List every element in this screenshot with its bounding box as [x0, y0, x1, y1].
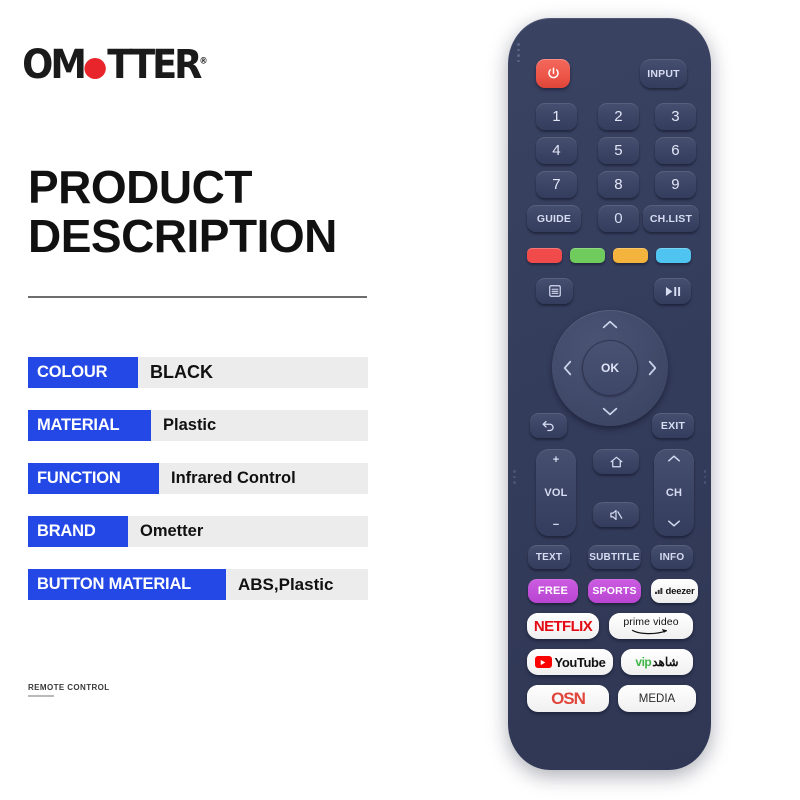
table-row: BUTTON MATERIAL ABS,Plastic — [28, 569, 368, 600]
spec-label-colour: COLOUR — [28, 357, 138, 388]
key-0[interactable]: 0 — [598, 205, 639, 232]
logo-red-dot-icon — [85, 58, 106, 79]
side-vent-dots-left-icon — [513, 470, 516, 487]
key-5[interactable]: 5 — [598, 137, 639, 164]
logo-prefix: OM — [22, 45, 84, 85]
shahid-arabic-label: شاهد — [652, 655, 678, 669]
prime-video-logo: prime video — [623, 617, 678, 635]
shahid-logo: vip شاهد — [635, 655, 678, 669]
color-button-yellow[interactable] — [613, 248, 648, 263]
product-info-panel: OMTTER® PRODUCT DESCRIPTION COLOUR BLACK… — [0, 0, 480, 800]
input-button[interactable]: INPUT — [640, 59, 687, 88]
shahid-vip-label: vip — [635, 655, 651, 669]
spec-value-colour: BLACK — [138, 357, 368, 388]
osn-button[interactable]: OSN — [527, 685, 609, 712]
spec-label-button-material: BUTTON MATERIAL — [28, 569, 226, 600]
prime-smile-arrow-icon — [631, 628, 671, 635]
table-row: BRAND Ometter — [28, 516, 368, 547]
menu-icon — [548, 284, 562, 298]
dpad[interactable]: OK — [552, 310, 668, 426]
chevron-left-icon — [562, 360, 573, 377]
mute-icon — [608, 508, 624, 522]
channel-label: CH — [666, 487, 682, 499]
home-button[interactable] — [593, 449, 639, 474]
prime-video-button[interactable]: prime video — [609, 613, 693, 639]
dpad-up-button[interactable] — [602, 319, 619, 330]
table-row: FUNCTION Infrared Control — [28, 463, 368, 494]
dpad-down-button[interactable] — [602, 406, 619, 417]
ok-button[interactable]: OK — [582, 340, 638, 396]
color-button-green[interactable] — [570, 248, 605, 263]
exit-button[interactable]: EXIT — [652, 413, 694, 438]
channel-down-button[interactable] — [667, 519, 681, 531]
volume-down-label[interactable]: − — [553, 519, 560, 531]
ir-emitter-dots-icon — [517, 43, 524, 65]
netflix-button[interactable]: NETFLIX — [527, 613, 599, 639]
color-button-blue[interactable] — [656, 248, 691, 263]
spec-value-button-material: ABS,Plastic — [226, 569, 368, 600]
youtube-play-icon — [535, 656, 552, 668]
logo-trademark: ® — [199, 57, 207, 67]
spec-label-material: MATERIAL — [28, 410, 151, 441]
key-4[interactable]: 4 — [536, 137, 577, 164]
key-3[interactable]: 3 — [655, 103, 696, 130]
logo-wordmark: OMTTER® — [22, 45, 207, 85]
remote-control-image: INPUT 1 2 3 4 5 6 7 8 9 GUIDE 0 CH.LIST — [508, 18, 711, 770]
media-button[interactable]: MEDIA — [618, 685, 696, 712]
power-icon — [546, 66, 561, 81]
dpad-left-button[interactable] — [562, 360, 573, 377]
logo-suffix: TTER — [107, 45, 199, 85]
spec-value-brand: Ometter — [128, 516, 368, 547]
subtitle-button[interactable]: SUBTITLE — [588, 545, 641, 569]
text-button[interactable]: TEXT — [528, 545, 570, 569]
table-row: MATERIAL Plastic — [28, 410, 368, 441]
free-button[interactable]: FREE — [528, 579, 578, 603]
key-2[interactable]: 2 — [598, 103, 639, 130]
play-pause-button[interactable] — [654, 278, 691, 304]
channel-rocker[interactable]: CH — [654, 449, 694, 536]
page-title: PRODUCT DESCRIPTION — [28, 163, 428, 261]
page-title-line2: DESCRIPTION — [28, 212, 428, 261]
menu-button[interactable] — [536, 278, 573, 304]
back-button[interactable] — [530, 413, 567, 438]
shahid-vip-button[interactable]: vip شاهد — [621, 649, 693, 675]
footer-caption-text: REMOTE CONTROL — [28, 683, 110, 692]
deezer-bars-icon — [655, 587, 664, 595]
footer-caption-bar — [28, 695, 54, 697]
osn-label: OSN — [551, 689, 585, 709]
chevron-down-icon — [667, 519, 681, 528]
key-8[interactable]: 8 — [598, 171, 639, 198]
key-9[interactable]: 9 — [655, 171, 696, 198]
table-row: COLOUR BLACK — [28, 357, 368, 388]
color-button-red[interactable] — [527, 248, 562, 263]
brand-logo: OMTTER® — [24, 44, 206, 86]
spec-label-function: FUNCTION — [28, 463, 159, 494]
guide-button[interactable]: GUIDE — [527, 205, 581, 232]
spec-value-material: Plastic — [151, 410, 368, 441]
youtube-button[interactable]: YouTube — [527, 649, 613, 675]
spec-label-brand: BRAND — [28, 516, 128, 547]
youtube-logo: YouTube — [535, 655, 606, 670]
page-title-line1: PRODUCT — [28, 163, 428, 212]
sports-button[interactable]: SPORTS — [588, 579, 641, 603]
prime-video-label: prime video — [623, 617, 678, 628]
home-icon — [609, 455, 624, 469]
info-button[interactable]: INFO — [651, 545, 693, 569]
dpad-right-button[interactable] — [647, 360, 658, 377]
chevron-down-icon — [602, 406, 619, 417]
key-6[interactable]: 6 — [655, 137, 696, 164]
deezer-button[interactable]: deezer — [651, 579, 698, 603]
volume-rocker[interactable]: + VOL − — [536, 449, 576, 536]
volume-up-label[interactable]: + — [553, 454, 560, 466]
back-arrow-icon — [541, 419, 556, 433]
mute-button[interactable] — [593, 502, 639, 527]
deezer-logo: deezer — [655, 586, 695, 597]
volume-label: VOL — [544, 487, 567, 499]
chevron-up-icon — [602, 319, 619, 330]
chevron-right-icon — [647, 360, 658, 377]
netflix-label: NETFLIX — [534, 618, 592, 635]
power-button[interactable] — [536, 59, 570, 88]
key-1[interactable]: 1 — [536, 103, 577, 130]
spec-table: COLOUR BLACK MATERIAL Plastic FUNCTION I… — [28, 357, 368, 622]
channel-list-button[interactable]: CH.LIST — [643, 205, 699, 232]
chevron-up-icon — [667, 454, 681, 463]
play-pause-icon — [664, 285, 682, 298]
key-7[interactable]: 7 — [536, 171, 577, 198]
youtube-label: YouTube — [555, 655, 606, 670]
channel-up-button[interactable] — [667, 454, 681, 466]
spec-value-function: Infrared Control — [159, 463, 368, 494]
side-vent-dots-right-icon — [704, 470, 707, 487]
deezer-label: deezer — [666, 586, 695, 597]
title-divider — [28, 296, 367, 298]
footer-caption: REMOTE CONTROL — [28, 683, 110, 697]
